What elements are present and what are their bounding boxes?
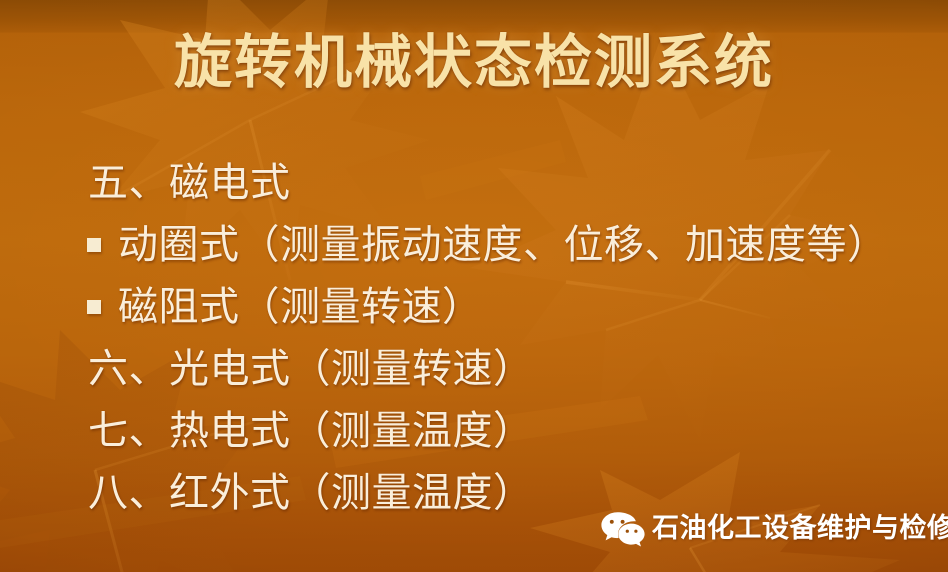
square-bullet-icon — [87, 300, 101, 314]
slide-title: 旋转机械状态检测系统 — [0, 28, 948, 96]
list-item-text: 八、红外式（测量温度） — [84, 469, 534, 517]
content-list: 五、磁电式 动圈式（测量振动速度、位移、加速度等） 磁阻式（测量转速） 六、光电… — [84, 152, 940, 524]
list-item-text: 六、光电式（测量转速） — [84, 345, 534, 393]
watermark-text: 石油化工设备维护与检修网 — [652, 514, 948, 544]
list-item-text: 七、热电式（测量温度） — [84, 407, 534, 455]
list-item-text: 五、磁电式 — [84, 159, 291, 207]
list-item: 六、光电式（测量转速） — [84, 338, 940, 400]
list-item: 五、磁电式 — [84, 152, 940, 214]
list-item-text: 动圈式（测量振动速度、位移、加速度等） — [118, 221, 888, 269]
square-bullet-icon — [87, 238, 101, 252]
watermark: 石油化工设备维护与检修网 — [600, 506, 948, 552]
list-item: 动圈式（测量振动速度、位移、加速度等） — [84, 214, 940, 276]
presentation-slide: 旋转机械状态检测系统 五、磁电式 动圈式（测量振动速度、位移、加速度等） 磁阻式… — [0, 0, 948, 572]
list-item: 七、热电式（测量温度） — [84, 400, 940, 462]
wechat-logo-icon — [600, 510, 646, 548]
list-item: 磁阻式（测量转速） — [84, 276, 940, 338]
list-item-text: 磁阻式（测量转速） — [118, 283, 483, 331]
